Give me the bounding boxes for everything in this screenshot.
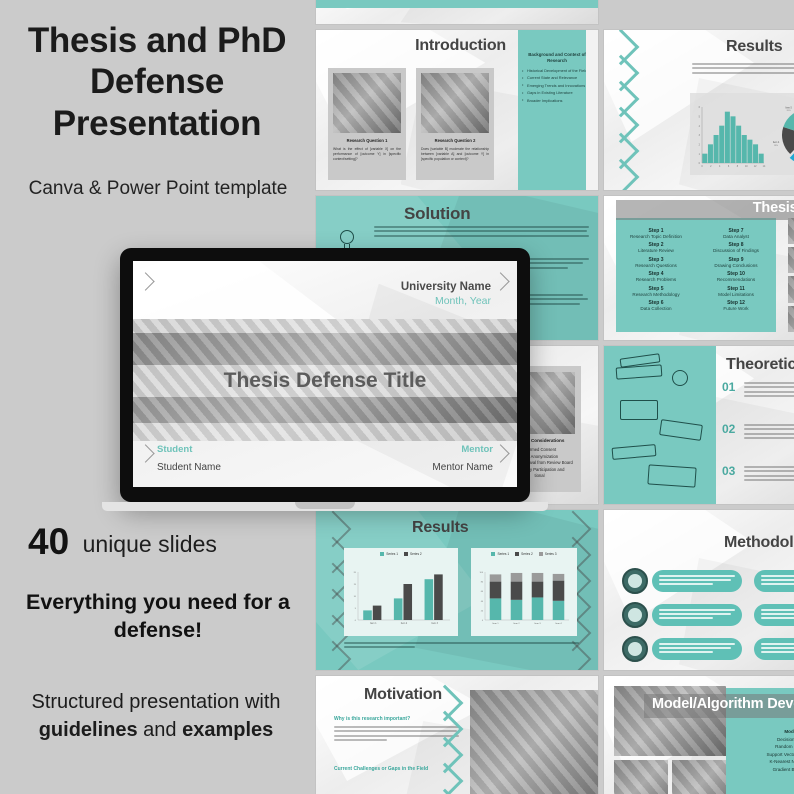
- svg-text:5: 5: [355, 608, 357, 610]
- svg-text:60: 60: [481, 591, 484, 593]
- laptop-trackpad-notch: [295, 502, 355, 509]
- roadmap-photo: [788, 247, 794, 273]
- promo-subheadline: Canva & Power Point template: [8, 178, 308, 200]
- clothing-rack-photo: [470, 690, 598, 794]
- svg-text:0: 0: [355, 620, 357, 622]
- paper-doodle-icon: [659, 419, 703, 441]
- stacked-chart-legend: Series 1 Series 2 Series 3: [471, 552, 577, 556]
- book-doodle-icon: [616, 364, 663, 379]
- student-name: Student Name: [157, 462, 221, 473]
- roadmap-step-label: Discussion of Findings: [698, 248, 774, 253]
- structured-bold-examples: examples: [182, 719, 273, 741]
- model-list-item: Gradient Boosting: [736, 766, 794, 774]
- slide-thumbnail-results-bars[interactable]: Results Series 1 Series 2 Item 1Item 2It…: [316, 510, 598, 670]
- roadmap-step-label: Research Questions: [618, 263, 694, 268]
- slide-edge: [586, 30, 598, 190]
- slide-thumbnail-roadmap[interactable]: Thesis Roadmap Step 1Research Topic Defi…: [604, 196, 794, 340]
- roadmap-step-label: Data Collection: [618, 306, 694, 311]
- model-list-item: Support Vector Machine: [736, 751, 794, 759]
- research-question-card-2: Research Question 2 Does [variable B] mo…: [416, 68, 494, 180]
- svg-text:Item 5: Item 5: [785, 106, 792, 109]
- theoretical-item-text: [744, 466, 794, 484]
- svg-text:3: 3: [699, 134, 701, 137]
- svg-text:8: 8: [737, 165, 739, 168]
- student-block: Student Student Name: [157, 444, 221, 473]
- slide-title-theoretical: Theoretical: [726, 356, 794, 374]
- slide-title-results: Results: [412, 519, 468, 537]
- model-algorithm-list: ModelDecision TreeRandom ForestSupport V…: [736, 728, 794, 773]
- slide-title-roadmap: Thesis Roadmap: [753, 200, 794, 216]
- svg-text:4: 4: [699, 125, 701, 128]
- introduction-bullet: Emerging Trends and Innovations: [522, 83, 592, 89]
- results-chart-container: 012345602468101214 Item 122%Item 220%Ite…: [690, 93, 794, 175]
- svg-text:Item 1: Item 1: [370, 622, 377, 625]
- grouped-bar-chart-container: Series 1 Series 2 Item 1Item 2Item 30510…: [344, 548, 458, 636]
- svg-text:20%: 20%: [787, 110, 791, 112]
- structured-bold-guidelines: guidelines: [39, 719, 138, 741]
- slide-thumbnail-methodology[interactable]: Methodology: [604, 510, 794, 670]
- svg-text:6: 6: [728, 165, 730, 168]
- methodology-row: [754, 568, 794, 594]
- stacked-bar-chart-svg: Item 1Item 2Item 3Item 4020406080100: [471, 562, 577, 634]
- legend-entry: Series 1: [491, 552, 509, 556]
- slide-thumbnail-model-algorithm[interactable]: Model/Algorithm Development ModelDecisio…: [604, 676, 794, 794]
- structured-mid: and: [138, 719, 182, 741]
- slide-count-label: unique slides: [83, 531, 217, 557]
- svg-text:Item 4: Item 4: [773, 141, 780, 144]
- svg-text:20: 20: [354, 572, 357, 574]
- roadmap-step-label: Drawing Conclusions: [698, 263, 774, 268]
- results-footer-text: [344, 642, 579, 651]
- theoretical-item-number: 03: [722, 464, 735, 478]
- teal-band: [316, 0, 598, 8]
- stacked-bar-chart-container: Series 1 Series 2 Series 3 Item 1Item 2I…: [471, 548, 577, 636]
- hand-doodle-icon: [620, 400, 658, 420]
- methodology-badge-icon: [622, 636, 648, 662]
- svg-text:20: 20: [481, 610, 484, 612]
- roadmap-left-column: Step 1Research Topic DefinitionStep 2Lit…: [618, 224, 694, 311]
- legend-entry: Series 3: [539, 552, 557, 556]
- methodology-text-pill: [754, 638, 794, 660]
- solution-paragraph-1: [374, 226, 589, 239]
- research-question-1-caption: Research Question 1: [332, 138, 402, 143]
- svg-text:40: 40: [481, 601, 484, 603]
- theoretical-item-number: 02: [722, 422, 735, 436]
- university-name: University Name: [401, 281, 491, 293]
- slide-count-row: 40 unique slides: [28, 521, 298, 563]
- chevron-ribbon-decoration: [432, 686, 466, 794]
- svg-text:Item 4: Item 4: [555, 622, 562, 625]
- promo-tagline: Everything you need for a defense!: [14, 588, 302, 645]
- motivation-question-2: Current Challenges or Gaps in the Field: [334, 766, 428, 772]
- methodology-text-pill: [754, 604, 794, 626]
- methodology-text-pill: [754, 570, 794, 592]
- teal-illustration-pane: [604, 346, 716, 504]
- svg-text:12: 12: [754, 165, 757, 168]
- slide-thumbnail-motivation[interactable]: Motivation Why is this research importan…: [316, 676, 598, 794]
- slide-title-methodology: Methodology: [724, 534, 794, 552]
- roadmap-step-label: Model Limitations: [698, 292, 774, 297]
- hands-earth-photo: [421, 73, 489, 133]
- svg-text:10: 10: [745, 165, 748, 168]
- svg-text:5: 5: [699, 116, 701, 119]
- slide-title-model-algorithm: Model/Algorithm Development: [652, 696, 794, 712]
- structured-prefix: Structured presentation with: [31, 691, 280, 713]
- research-question-1-body: What is the effect of [variable X] on th…: [333, 147, 401, 162]
- research-question-card-1: Research Question 1 What is the effect o…: [328, 68, 406, 180]
- slide-title-solution: Solution: [404, 204, 470, 224]
- book-doodle-icon: [612, 444, 657, 460]
- roadmap-photo: [788, 276, 794, 302]
- sidebar-title: Background and Context of Research: [524, 52, 590, 64]
- mentor-role-label: Mentor: [432, 444, 493, 455]
- title-slide-heading: Thesis Defense Title: [133, 369, 517, 393]
- model-list-item: Decision Tree: [736, 736, 794, 744]
- slide-thumbnail-theoretical[interactable]: Theoretical 010203: [604, 346, 794, 504]
- model-list-item: Model: [736, 728, 794, 736]
- galaxy-photo: [614, 760, 668, 794]
- open-book-doodle-icon: [647, 464, 696, 487]
- svg-text:Item 3: Item 3: [431, 622, 438, 625]
- methodology-text-pill: [652, 604, 742, 626]
- research-question-2-caption: Research Question 2: [420, 138, 490, 143]
- laptop-screen[interactable]: University Name Month, Year Thesis Defen…: [133, 261, 517, 487]
- model-list-item: Random Forest: [736, 743, 794, 751]
- svg-text:4: 4: [719, 165, 721, 168]
- lightbulb-doodle-icon: [672, 370, 688, 386]
- grouped-chart-legend: Series 1 Series 2: [344, 552, 458, 556]
- methodology-row: [754, 602, 794, 628]
- methodology-row: [622, 636, 742, 662]
- legend-entry: Series 2: [515, 552, 533, 556]
- globe-photo: [333, 73, 401, 133]
- theoretical-item-text: [744, 424, 794, 442]
- svg-text:0: 0: [482, 620, 484, 622]
- roadmap-step-label: Future Work: [698, 306, 774, 311]
- svg-text:Item 3: Item 3: [534, 622, 541, 625]
- promo-structured-text: Structured presentation with guidelines …: [6, 688, 306, 745]
- svg-text:2: 2: [710, 165, 712, 168]
- slide-thumbnail-introduction[interactable]: Introduction Research Question 1 What is…: [316, 30, 598, 190]
- roadmap-photo: [788, 218, 794, 244]
- laptop-mockup: University Name Month, Year Thesis Defen…: [120, 248, 530, 502]
- results-charts-svg: 012345602468101214 Item 122%Item 220%Ite…: [690, 93, 794, 175]
- svg-text:Item 2: Item 2: [513, 622, 520, 625]
- svg-text:100: 100: [480, 572, 484, 574]
- roadmap-step-label: Literature Review: [618, 248, 694, 253]
- methodology-badge-icon: [622, 568, 648, 594]
- legend-entry: Series 2: [404, 552, 422, 556]
- research-question-2-body: Does [variable B] moderate the relations…: [421, 147, 489, 162]
- roadmap-step-label: Data Analyst: [698, 234, 774, 239]
- university-block: University Name Month, Year: [401, 281, 491, 307]
- methodology-text-pill: [652, 638, 742, 660]
- svg-text:2: 2: [699, 144, 701, 147]
- roadmap-photo: [788, 306, 794, 332]
- svg-text:6: 6: [699, 106, 701, 109]
- presentation-date: Month, Year: [401, 295, 491, 307]
- methodology-row: [622, 568, 742, 594]
- introduction-bullet: Historical Development of the Field: [522, 68, 592, 74]
- roadmap-step-label: Research Problems: [618, 277, 694, 282]
- methodology-row: [622, 602, 742, 628]
- slide-thumbnail-results-pie[interactable]: Results 012345602468101214 Item 122%Item…: [604, 30, 794, 190]
- svg-text:10: 10: [354, 596, 357, 598]
- legend-entry: Series 1: [380, 552, 398, 556]
- methodology-badge-icon: [622, 602, 648, 628]
- svg-text:0: 0: [701, 165, 703, 168]
- methodology-text-pill: [652, 570, 742, 592]
- chevron-ribbon-decoration: [608, 30, 642, 190]
- slide-title-introduction: Introduction: [415, 37, 506, 55]
- mentor-name: Mentor Name: [432, 462, 493, 473]
- slide-count-number: 40: [28, 521, 69, 562]
- promo-headline: Thesis and PhD Defense Presentation: [18, 20, 296, 144]
- methodology-row: [754, 636, 794, 662]
- roadmap-step-label: Recommendations: [698, 277, 774, 282]
- slide-thumbnail-top-strip[interactable]: [316, 0, 598, 24]
- theoretical-item-text: [744, 382, 794, 400]
- student-role-label: Student: [157, 444, 221, 455]
- introduction-bullet: Broader Implications: [522, 98, 592, 104]
- grouped-bar-chart-svg: Item 1Item 2Item 305101520: [344, 562, 458, 634]
- slide-title-results: Results: [726, 38, 782, 56]
- motivation-question-1: Why is this research important?: [334, 716, 410, 722]
- results-paragraph: [692, 63, 794, 76]
- svg-text:1: 1: [699, 153, 701, 156]
- roadmap-step-label: Research Methodology: [618, 292, 694, 297]
- roadmap-right-column: Step 7Data AnalystStep 8Discussion of Fi…: [698, 224, 774, 311]
- mentor-block: Mentor Mentor Name: [432, 444, 493, 473]
- particles-photo: [672, 760, 726, 794]
- svg-text:14: 14: [763, 165, 766, 168]
- svg-text:Item 2: Item 2: [401, 622, 408, 625]
- introduction-bullet: Current State and Relevance: [522, 75, 592, 81]
- svg-text:80: 80: [481, 582, 484, 584]
- introduction-bullet: Gaps in Existing Literature: [522, 90, 592, 96]
- svg-text:Item 1: Item 1: [492, 622, 499, 625]
- svg-text:18%: 18%: [774, 145, 778, 147]
- svg-text:15: 15: [354, 584, 357, 586]
- theoretical-item-number: 01: [722, 380, 735, 394]
- model-list-item: K-Nearest Neighbors: [736, 758, 794, 766]
- introduction-bullet-list: Historical Development of the FieldCurre…: [522, 68, 592, 105]
- roadmap-step-label: Research Topic Definition: [618, 234, 694, 239]
- roadmap-photo-strip: [788, 218, 794, 332]
